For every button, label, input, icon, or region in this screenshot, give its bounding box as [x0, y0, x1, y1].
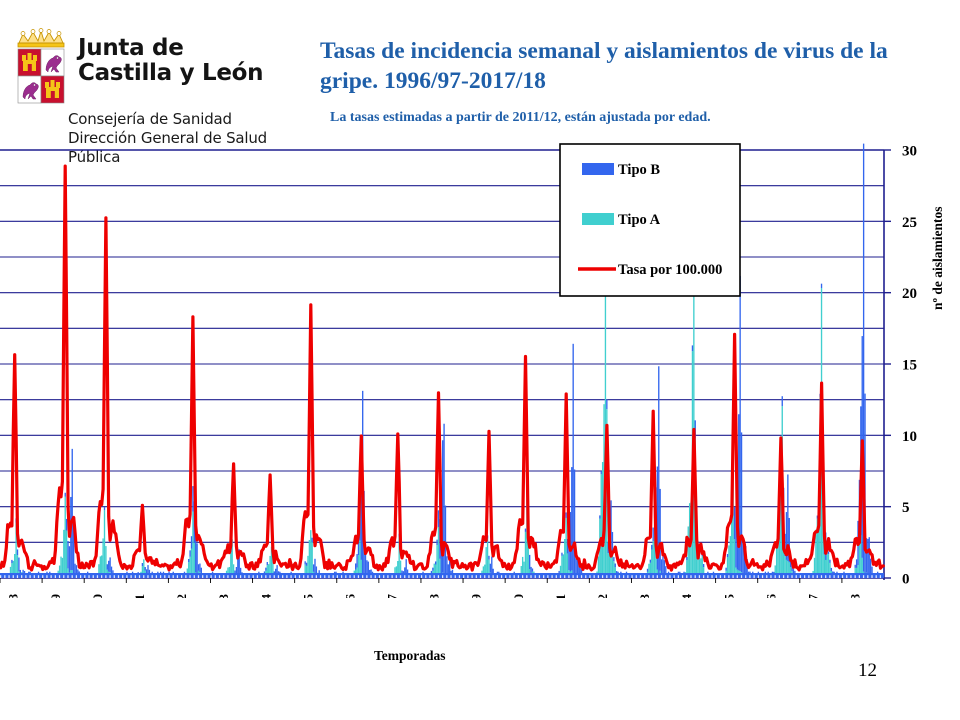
x-tick-98--99: 98//99 [48, 594, 63, 598]
x-tick-17-18: 17/18 [848, 594, 863, 598]
y-tick-5: 5 [902, 500, 910, 516]
chart-canvas: 051015202530 97//9898//9999//0000//0101/… [0, 138, 960, 598]
x-tick-02--03: 02//03 [216, 594, 231, 598]
legend-label-tipo-a: Tipo A [618, 212, 661, 228]
logo-dept-line1: Consejería de Sanidad [68, 110, 308, 129]
legend-swatch-tipo-a [582, 213, 614, 225]
x-axis-title: Temporadas [374, 648, 446, 664]
flu-surveillance-chart: 051015202530 97//9898//9999//0000//0101/… [0, 138, 960, 598]
chart-legend[interactable]: Tipo BTipo ATasa por 100.000 [560, 144, 740, 296]
series-tasa-line [1, 166, 884, 570]
x-tick-16-17: 16/17 [805, 594, 820, 598]
x-tick-07--08: 07//08 [427, 594, 442, 598]
x-tick-00--01: 00//01 [132, 594, 147, 598]
x-tick-09--10: 09//10 [511, 594, 526, 598]
x-tick-11--12: 11//12 [595, 594, 610, 598]
y-axis-title: nº de aislamientos [930, 207, 946, 310]
y-axis-ticks [884, 150, 891, 578]
x-tick-99--00: 99//00 [90, 594, 105, 598]
logo-org-line1: Junta de [78, 36, 263, 61]
organization-logo: Junta de Castilla y León Consejería de S… [8, 14, 308, 132]
coat-of-arms-castilla-y-leon-icon [10, 28, 72, 108]
chart-baseline-band [0, 573, 884, 578]
x-tick-13--14: 13//14 [679, 594, 694, 598]
slide-number: 12 [858, 660, 877, 682]
x-tick-97--98: 97//98 [6, 594, 21, 598]
x-tick-10--11: 10//11 [553, 594, 568, 598]
y-tick-0: 0 [902, 572, 910, 588]
x-tick-15-16: 15/16 [763, 594, 778, 598]
x-tick-14-15: 14/15 [721, 594, 736, 598]
x-tick-05--06: 05//06 [342, 594, 357, 598]
y-tick-25: 25 [902, 215, 917, 231]
x-tick-03--04: 03//04 [258, 594, 273, 598]
logo-org-line2: Castilla y León [78, 61, 263, 86]
y-tick-20: 20 [902, 286, 917, 302]
legend-swatch-tipo-b [582, 163, 614, 175]
x-tick-01--02: 01//02 [174, 594, 189, 598]
slide-subtitle: La tasas estimadas a partir de 2011/12, … [330, 110, 930, 126]
slide-title: Tasas de incidencia semanal y aislamient… [320, 36, 930, 96]
x-tick-04--05: 04//05 [300, 594, 315, 598]
y-tick-10: 10 [902, 429, 917, 445]
legend-label-tipo-b: Tipo B [618, 162, 660, 178]
y-axis-tick-labels: 051015202530 [902, 144, 917, 588]
legend-label-tasa-por-100-000: Tasa por 100.000 [618, 262, 722, 278]
x-axis-tick-labels: 97//9898//9999//0000//0101//0202//0303//… [0, 578, 863, 598]
y-tick-15: 15 [902, 358, 917, 374]
x-tick-08--09: 08//09 [469, 594, 484, 598]
x-tick-06--07: 06//07 [385, 594, 400, 598]
x-tick-12--13: 12//13 [637, 594, 652, 598]
y-tick-30: 30 [902, 144, 917, 160]
